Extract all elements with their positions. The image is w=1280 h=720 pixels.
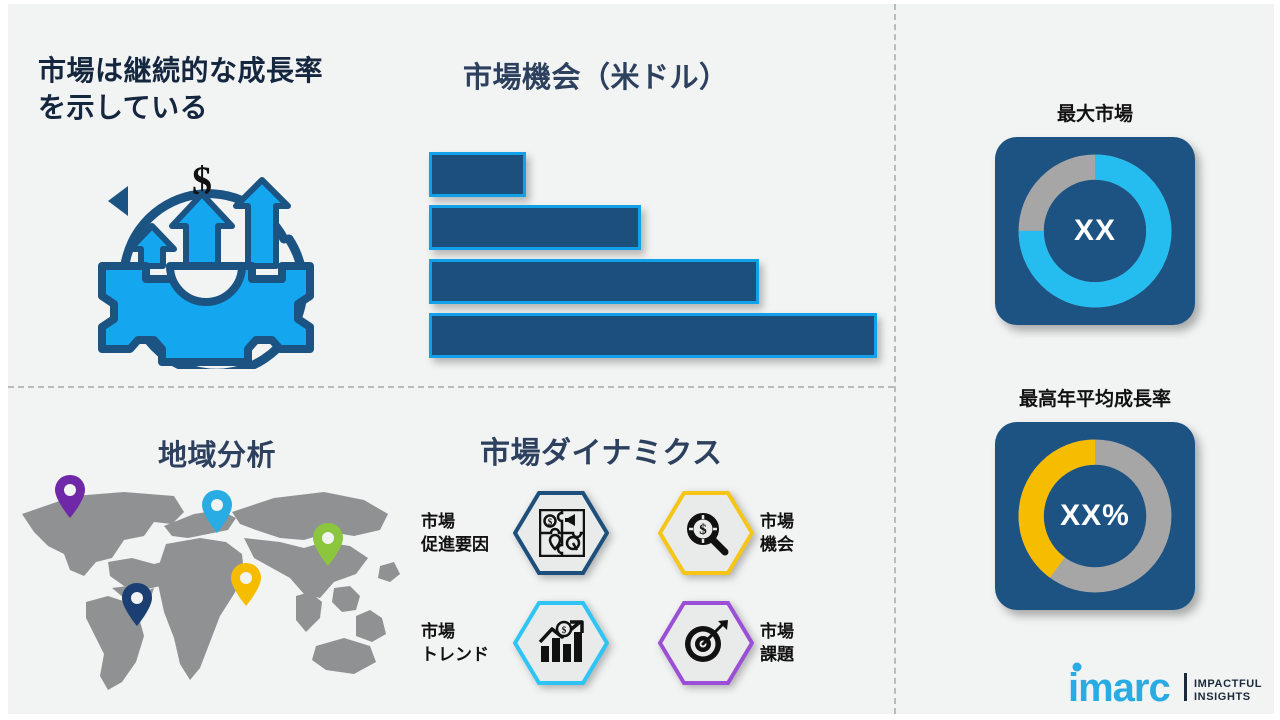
donut-card-largest-market: XX <box>995 137 1195 325</box>
dynamics-item-label: 市場 トレンド <box>421 620 507 666</box>
dynamics-item-market-trends[interactable]: 市場 トレンド $ <box>421 601 609 685</box>
hexagon-market-challenges <box>658 601 754 685</box>
bar-2 <box>429 205 641 250</box>
pin-middle-east <box>229 562 263 608</box>
donut-1-label: 最大市場 <box>980 99 1210 126</box>
donut-card-highest-cagr: XX% <box>995 422 1195 610</box>
growth-statement-title: 市場は継続的な成長率 を示している <box>38 52 388 126</box>
pin-north-america <box>53 474 87 520</box>
donut-2-label: 最高年平均成長率 <box>980 384 1210 411</box>
hexagon-market-opportunities: $ <box>658 491 754 575</box>
target-dart-icon <box>682 619 730 667</box>
logo-tagline-line2: INSIGHTS <box>1194 691 1251 703</box>
dynamics-item-market-opportunities[interactable]: $ 市場 機会 <box>658 491 840 575</box>
dynamics-item-label: 市場 機会 <box>760 510 840 556</box>
vertical-divider <box>894 4 896 714</box>
market-dynamics-title: 市場ダイナミクス <box>480 428 723 472</box>
hexagon-market-drivers: $ <box>513 491 609 575</box>
magnifier-dollar-icon: $ <box>682 509 730 557</box>
imarc-logo: imarc IMPACTFUL INSIGHTS <box>1068 659 1268 707</box>
bar-chart-growth-icon: $ <box>538 620 586 666</box>
dynamics-item-market-drivers[interactable]: 市場 促進要因 $ <box>421 491 609 575</box>
slide-canvas: 市場は継続的な成長率 を示している $ 市場機会（米ドル） <box>8 4 1274 714</box>
growth-cycle-gear-icon: $ <box>84 144 324 369</box>
hexagon-market-trends: $ <box>513 601 609 685</box>
pin-east-asia <box>311 522 345 568</box>
pin-south-america <box>120 582 154 628</box>
bar-4 <box>429 313 877 358</box>
bar-3 <box>429 259 759 304</box>
donut-1-center-value: XX <box>995 137 1195 325</box>
dynamics-item-label: 市場 促進要因 <box>421 510 507 556</box>
pin-europe <box>200 489 234 535</box>
donut-2-center-value: XX% <box>995 422 1195 610</box>
bar-chart-title: 市場機会（米ドル） <box>463 54 729 96</box>
horizontal-divider <box>8 386 894 388</box>
dynamics-item-label: 市場 課題 <box>760 620 840 666</box>
svg-text:$: $ <box>548 517 553 527</box>
svg-text:$: $ <box>562 625 567 635</box>
bar-1 <box>429 152 526 197</box>
dynamics-item-market-challenges[interactable]: 市場 課題 <box>658 601 840 685</box>
logo-wordmark: imarc <box>1068 666 1170 707</box>
puzzle-pieces-icon: $ <box>539 509 585 557</box>
svg-text:$: $ <box>699 522 707 538</box>
infographic-slide: 市場は継続的な成長率 を示している $ 市場機会（米ドル） <box>0 0 1280 720</box>
logo-tagline-line1: IMPACTFUL <box>1194 678 1262 690</box>
